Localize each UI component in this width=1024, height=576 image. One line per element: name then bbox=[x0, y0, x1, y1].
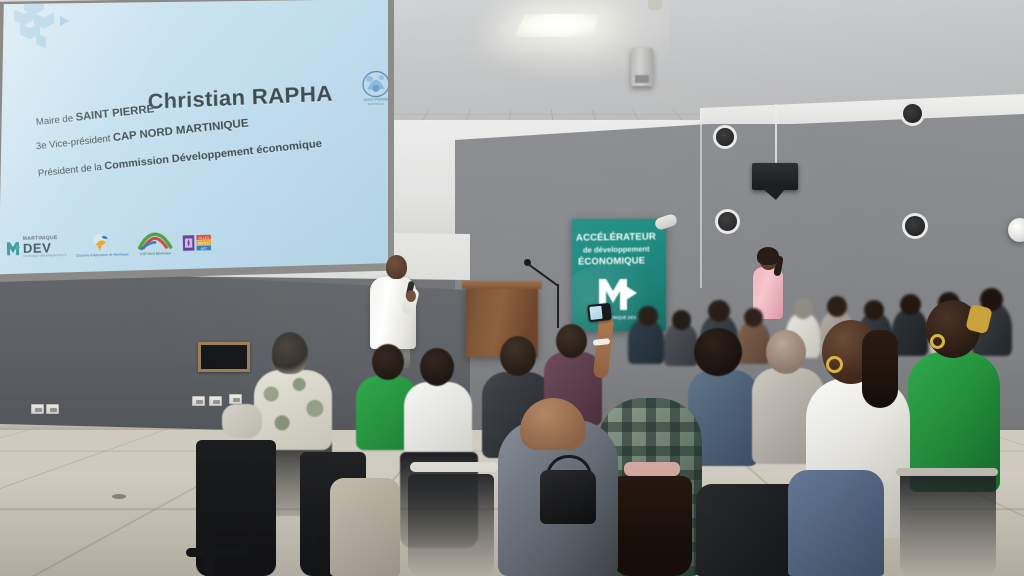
mdev-line-3: martinique-developpement.fr bbox=[23, 253, 67, 257]
phone-screen[interactable] bbox=[589, 306, 602, 320]
svg-text:MARTINIQUE: MARTINIQUE bbox=[368, 103, 385, 106]
round-wall-vent bbox=[905, 216, 925, 236]
svg-text:PAYS D: PAYS D bbox=[198, 241, 211, 245]
wall-outlet[interactable] bbox=[31, 404, 44, 414]
floral-print-shirt bbox=[254, 370, 332, 450]
projector-speaker bbox=[631, 48, 653, 86]
round-wall-vent bbox=[716, 128, 734, 146]
speaker-cable bbox=[775, 104, 777, 164]
banner-line-3: ÉCONOMIQUE bbox=[578, 254, 645, 266]
attendee-head bbox=[900, 294, 921, 315]
attendee-head bbox=[766, 330, 806, 374]
banner-line-2: de développement bbox=[583, 244, 650, 254]
slide-line-1-emphasis: SAINT PIERRE bbox=[75, 103, 154, 124]
attendee-head bbox=[272, 332, 308, 374]
agriculture-bird-icon bbox=[92, 232, 113, 252]
villes-text-icon: VILLES PAYS D ART bbox=[197, 232, 212, 252]
wall-seam bbox=[700, 108, 702, 288]
attendee-head bbox=[500, 336, 536, 376]
wall-outlet[interactable] bbox=[46, 404, 59, 414]
round-wall-vent bbox=[718, 212, 737, 231]
mic-pole bbox=[557, 284, 559, 328]
attendee-head bbox=[672, 310, 691, 330]
attendee-head bbox=[827, 296, 847, 317]
svg-text:SAINT-PIERRE: SAINT-PIERRE bbox=[363, 97, 388, 102]
svg-text:ART: ART bbox=[201, 246, 208, 250]
hair bbox=[757, 247, 779, 265]
hoop-earring bbox=[826, 356, 843, 373]
villes-monument-icon bbox=[182, 233, 196, 253]
attendee-jeans bbox=[788, 470, 884, 576]
attendee-khaki-trousers bbox=[330, 478, 400, 576]
projected-slide: SAINT-PIERRE MARTINIQUE Christian RAPHA … bbox=[0, 0, 388, 276]
villes-dart-logo: VILLES PAYS D ART bbox=[182, 232, 212, 252]
cap-nord-arch-icon bbox=[138, 231, 173, 250]
cube-pattern-icon bbox=[6, 0, 86, 58]
m-arrow-icon bbox=[6, 238, 21, 255]
chair-top-rail bbox=[410, 462, 498, 472]
slide-line-1: Maire de SAINT PIERRE bbox=[35, 103, 154, 128]
attendee-head bbox=[556, 324, 587, 358]
afro-hair bbox=[694, 328, 742, 376]
round-wall-vent bbox=[903, 104, 922, 123]
svg-text:VILLES: VILLES bbox=[198, 235, 209, 239]
chair-back[interactable] bbox=[900, 470, 996, 576]
slide-line-3-emphasis: Commission Développement économique bbox=[104, 137, 323, 172]
smartphone[interactable] bbox=[587, 303, 612, 322]
cap-nord-martinique-logo: CAP Nord Martinique bbox=[138, 231, 174, 255]
chair-leg bbox=[318, 536, 327, 576]
bag-body bbox=[540, 470, 596, 524]
attendee-head bbox=[793, 298, 813, 319]
wall-outlet[interactable] bbox=[192, 396, 205, 406]
wall-outlet[interactable] bbox=[209, 396, 222, 406]
martinique-dev-logo: MARTINIQUE DEV martinique-developpement.… bbox=[6, 235, 67, 258]
slide-line-2-emphasis: CAP NORD MARTINIQUE bbox=[112, 117, 249, 144]
attendee-head bbox=[420, 348, 454, 386]
chambre-agriculture-logo: Chambre d'Agriculture de Martinique bbox=[76, 232, 129, 258]
attendee-head bbox=[864, 300, 884, 320]
presenter-head bbox=[386, 255, 407, 279]
attendee-head bbox=[372, 344, 404, 380]
mic-arm bbox=[526, 262, 560, 287]
projection-screen: SAINT-PIERRE MARTINIQUE Christian RAPHA … bbox=[0, 0, 394, 282]
slide-line-3-prefix: Président de la bbox=[38, 161, 106, 179]
floor-mark bbox=[112, 494, 126, 499]
slide-title: Christian RAPHA bbox=[147, 82, 333, 115]
presenter-hand bbox=[406, 290, 416, 302]
attendee-head bbox=[638, 306, 658, 326]
hair-tie bbox=[624, 462, 680, 476]
slide-line-1-prefix: Maire de bbox=[36, 113, 77, 128]
long-hair bbox=[862, 330, 898, 408]
gooseneck-microphone-stand bbox=[527, 262, 555, 296]
saint-pierre-crest-icon: SAINT-PIERRE MARTINIQUE bbox=[358, 68, 388, 109]
wall-outlet[interactable] bbox=[229, 394, 242, 404]
cap-nord-label: CAP Nord Martinique bbox=[140, 251, 171, 256]
banner-line-1: ACCÉLÉRATEUR bbox=[576, 231, 664, 244]
chambre-agriculture-label: Chambre d'Agriculture de Martinique bbox=[76, 252, 129, 257]
attendee-head bbox=[708, 300, 730, 322]
chair-back[interactable] bbox=[408, 474, 494, 576]
slide-logo-row: MARTINIQUE DEV martinique-developpement.… bbox=[6, 224, 242, 265]
sprinkler-head-icon bbox=[648, 0, 662, 10]
chair-top-rail bbox=[896, 468, 998, 476]
attendee-arm bbox=[222, 404, 262, 438]
framed-wall-panel bbox=[198, 342, 250, 372]
recessed-panel-light bbox=[515, 14, 598, 37]
chair-base bbox=[186, 548, 248, 557]
hoop-earring bbox=[930, 334, 945, 349]
slide-line-2-prefix: 3e Vice-président bbox=[36, 133, 114, 152]
photo-scene: SAINT-PIERRE MARTINIQUE Christian RAPHA … bbox=[0, 0, 1024, 576]
black-wall-speaker bbox=[752, 163, 798, 190]
mic-head-icon bbox=[524, 259, 531, 266]
braided-hair bbox=[612, 476, 692, 576]
attendee-head bbox=[744, 308, 763, 327]
